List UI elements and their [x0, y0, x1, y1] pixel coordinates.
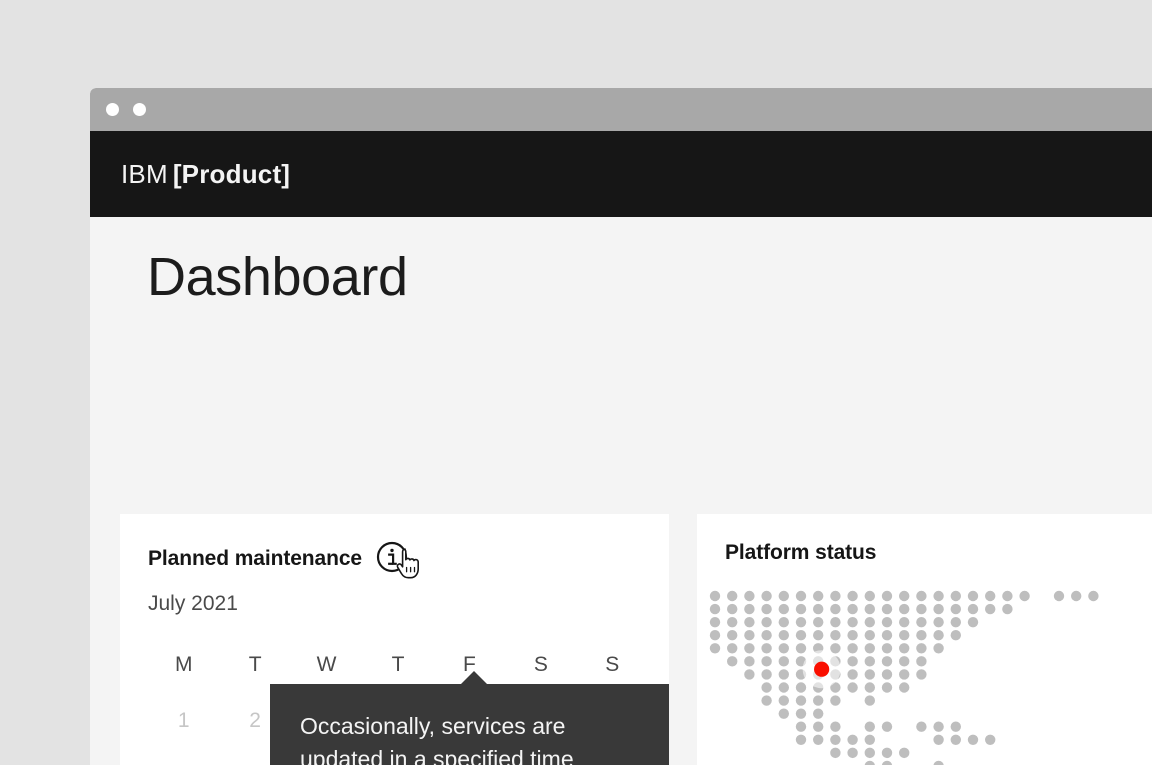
page-body: Dashboard Planned maintenance: [90, 217, 1152, 765]
card-platform-status: Platform status: [697, 514, 1152, 765]
calendar-day-header: T: [233, 648, 277, 682]
card-planned-maintenance: Planned maintenance: [120, 514, 669, 765]
calendar-day[interactable]: 1: [162, 700, 206, 742]
calendar-day-header: W: [305, 648, 349, 682]
app-title: IBM[Product]: [121, 159, 290, 190]
info-tooltip: Occasionally, services are updated in a …: [270, 684, 669, 765]
calendar-day-header: M: [162, 648, 206, 682]
calendar-month-label: July 2021: [148, 592, 648, 616]
info-tooltip-trigger[interactable]: [376, 541, 420, 577]
tooltip-arrow: [460, 671, 488, 685]
card-title-platform-status: Platform status: [725, 541, 876, 565]
page-title: Dashboard: [147, 250, 408, 304]
calendar-day[interactable]: 8: [162, 760, 206, 765]
card-header-planned-maintenance: Planned maintenance: [120, 514, 669, 577]
info-icon[interactable]: [376, 541, 408, 573]
screenshot-stage: IBM[Product] Dashboard Planned maintenan…: [0, 0, 1152, 765]
platform-status-map: [705, 588, 1152, 765]
card-title-planned-maintenance: Planned maintenance: [148, 547, 362, 571]
app-product-name: [Product]: [173, 159, 290, 189]
calendar-day-header: S: [590, 648, 634, 682]
window-dot-2[interactable]: [133, 103, 146, 116]
card-header-platform-status: Platform status: [697, 514, 1152, 565]
calendar-day-header: T: [376, 648, 420, 682]
app-header: IBM[Product]: [90, 131, 1152, 217]
dot-matrix-map: [705, 588, 1152, 765]
tooltip-text: Occasionally, services are updated in a …: [300, 713, 622, 765]
browser-titlebar: [90, 88, 1152, 131]
browser-window: IBM[Product] Dashboard Planned maintenan…: [90, 88, 1152, 765]
status-marker-north-america[interactable]: [814, 662, 829, 677]
window-dot-1[interactable]: [106, 103, 119, 116]
app-brand: IBM: [121, 159, 168, 189]
calendar-day-header: S: [519, 648, 563, 682]
